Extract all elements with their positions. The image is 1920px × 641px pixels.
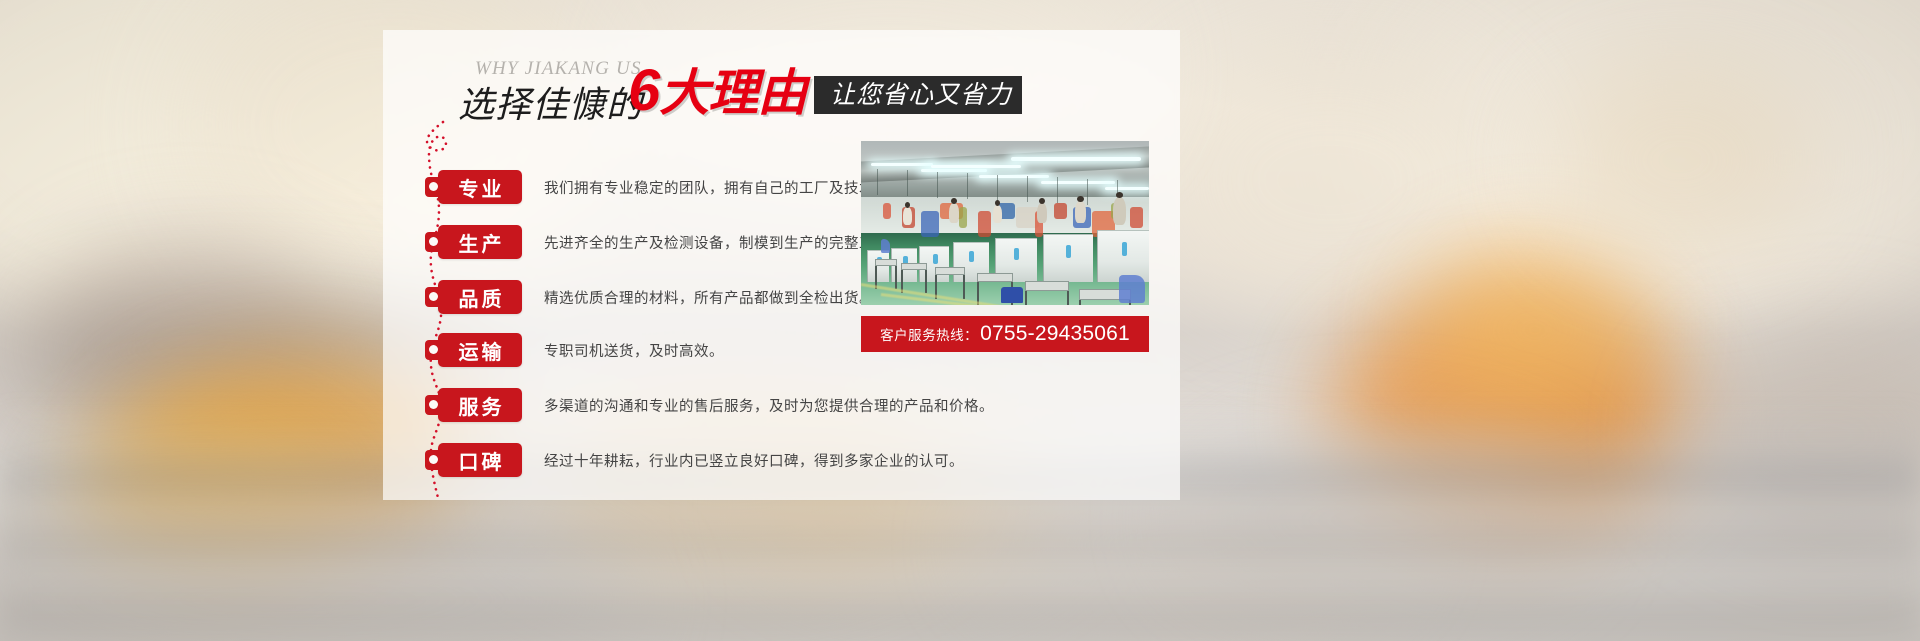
title-highlight-text: 大理由 <box>659 65 806 121</box>
panel-indicator <box>1014 248 1019 260</box>
worker <box>1075 201 1086 223</box>
reason-item: 运输专职司机送货，及时高效。 <box>438 333 724 367</box>
reason-badge: 运输 <box>438 333 522 367</box>
ceiling-lamp <box>1011 157 1141 161</box>
reason-description: 精选优质合理的材料，所有产品都做到全检出货。 <box>544 287 874 308</box>
garment <box>921 211 939 237</box>
workbench <box>977 273 1013 282</box>
reason-description: 我们拥有专业稳定的团队，拥有自己的工厂及技术。 <box>544 177 889 198</box>
title-lead-zh: 选择佳慷的 <box>458 76 643 128</box>
worker-head <box>1039 198 1045 204</box>
worker <box>993 205 1002 223</box>
workbench <box>1025 281 1069 291</box>
reason-badge: 品质 <box>438 280 522 314</box>
worker <box>949 203 959 223</box>
bench-leg <box>1067 291 1069 305</box>
hotline-number: 0755-29435061 <box>980 322 1130 346</box>
garment <box>883 203 891 219</box>
reason-item: 品质精选优质合理的材料，所有产品都做到全检出货。 <box>438 280 874 314</box>
reason-badge: 服务 <box>438 388 522 422</box>
bench-leg <box>1079 300 1081 305</box>
worker-head <box>951 198 957 204</box>
reason-description: 经过十年耕耘，行业内已竖立良好口碑，得到多家企业的认可。 <box>544 450 964 471</box>
reason-item: 服务多渠道的沟通和专业的售后服务，及时为您提供合理的产品和价格。 <box>438 388 994 422</box>
garment <box>978 211 991 237</box>
hanging-rod <box>1087 179 1088 205</box>
ceiling-lamp <box>921 169 987 172</box>
title-highlight: 6大理由 <box>628 62 806 122</box>
garment <box>1130 207 1143 228</box>
blue-stool <box>1001 287 1023 303</box>
blue-bag <box>881 239 890 253</box>
worker <box>1113 197 1126 225</box>
garment <box>959 207 967 228</box>
reason-badge: 口碑 <box>438 443 522 477</box>
hotline-label: 客户服务热线： <box>880 324 978 344</box>
factory-workshop-photo <box>861 141 1149 305</box>
workbench <box>935 267 965 275</box>
bench-leg <box>925 270 927 293</box>
reason-description: 多渠道的沟通和专业的售后服务，及时为您提供合理的产品和价格。 <box>544 395 994 416</box>
reason-description: 先进齐全的生产及检测设备，制模到生产的完整工艺。 <box>544 232 904 253</box>
panel-indicator <box>1122 242 1127 257</box>
hanging-rod <box>937 172 938 198</box>
reason-item: 专业我们拥有专业稳定的团队，拥有自己的工厂及技术。 <box>438 170 889 204</box>
panel-indicator <box>1066 245 1071 258</box>
page-title: WHY JIAKANG US 选择佳慷的 6大理由 让您省心又省力 <box>430 58 1150 130</box>
ceiling-lamp <box>1105 187 1149 190</box>
reason-description: 专职司机送货，及时高效。 <box>544 340 724 361</box>
blue-bag <box>1119 275 1145 303</box>
reason-badge: 生产 <box>438 225 522 259</box>
content-card: WHY JIAKANG US 选择佳慷的 6大理由 让您省心又省力 专业我们拥有… <box>383 30 1180 500</box>
hanging-rod <box>1057 177 1058 203</box>
reason-item: 口碑经过十年耕耘，行业内已竖立良好口碑，得到多家企业的认可。 <box>438 443 964 477</box>
garment <box>1054 203 1067 219</box>
hanging-rod <box>907 170 908 196</box>
bench-leg <box>895 266 897 289</box>
worker <box>1037 203 1047 223</box>
workstation <box>1043 234 1093 282</box>
title-tagline-bar: 让您省心又省力 <box>814 76 1022 114</box>
hanging-rod <box>997 175 998 201</box>
hanging-rod <box>877 169 878 195</box>
workstation <box>867 250 889 282</box>
reason-item: 生产先进齐全的生产及检测设备，制模到生产的完整工艺。 <box>438 225 904 259</box>
ceiling-lamp <box>979 175 1049 178</box>
title-highlight-number: 6 <box>628 58 659 123</box>
bench-leg <box>1025 291 1027 305</box>
ceiling-lamp <box>931 165 1021 168</box>
worker-head <box>1077 196 1083 202</box>
reason-badge: 专业 <box>438 170 522 204</box>
panel-indicator <box>969 251 974 262</box>
ceiling-lamp <box>871 163 933 166</box>
hanging-rod <box>1027 176 1028 202</box>
ceiling-lamp <box>1041 181 1115 184</box>
worker <box>903 207 912 225</box>
bench-leg <box>963 275 965 299</box>
panel-indicator <box>933 254 938 264</box>
hotline-bar[interactable]: 客户服务热线： 0755-29435061 <box>861 316 1149 352</box>
workbench <box>875 259 897 266</box>
workbench <box>901 263 927 270</box>
hanging-rod <box>967 173 968 199</box>
banner-stage: WHY JIAKANG US 选择佳慷的 6大理由 让您省心又省力 专业我们拥有… <box>0 0 1920 641</box>
